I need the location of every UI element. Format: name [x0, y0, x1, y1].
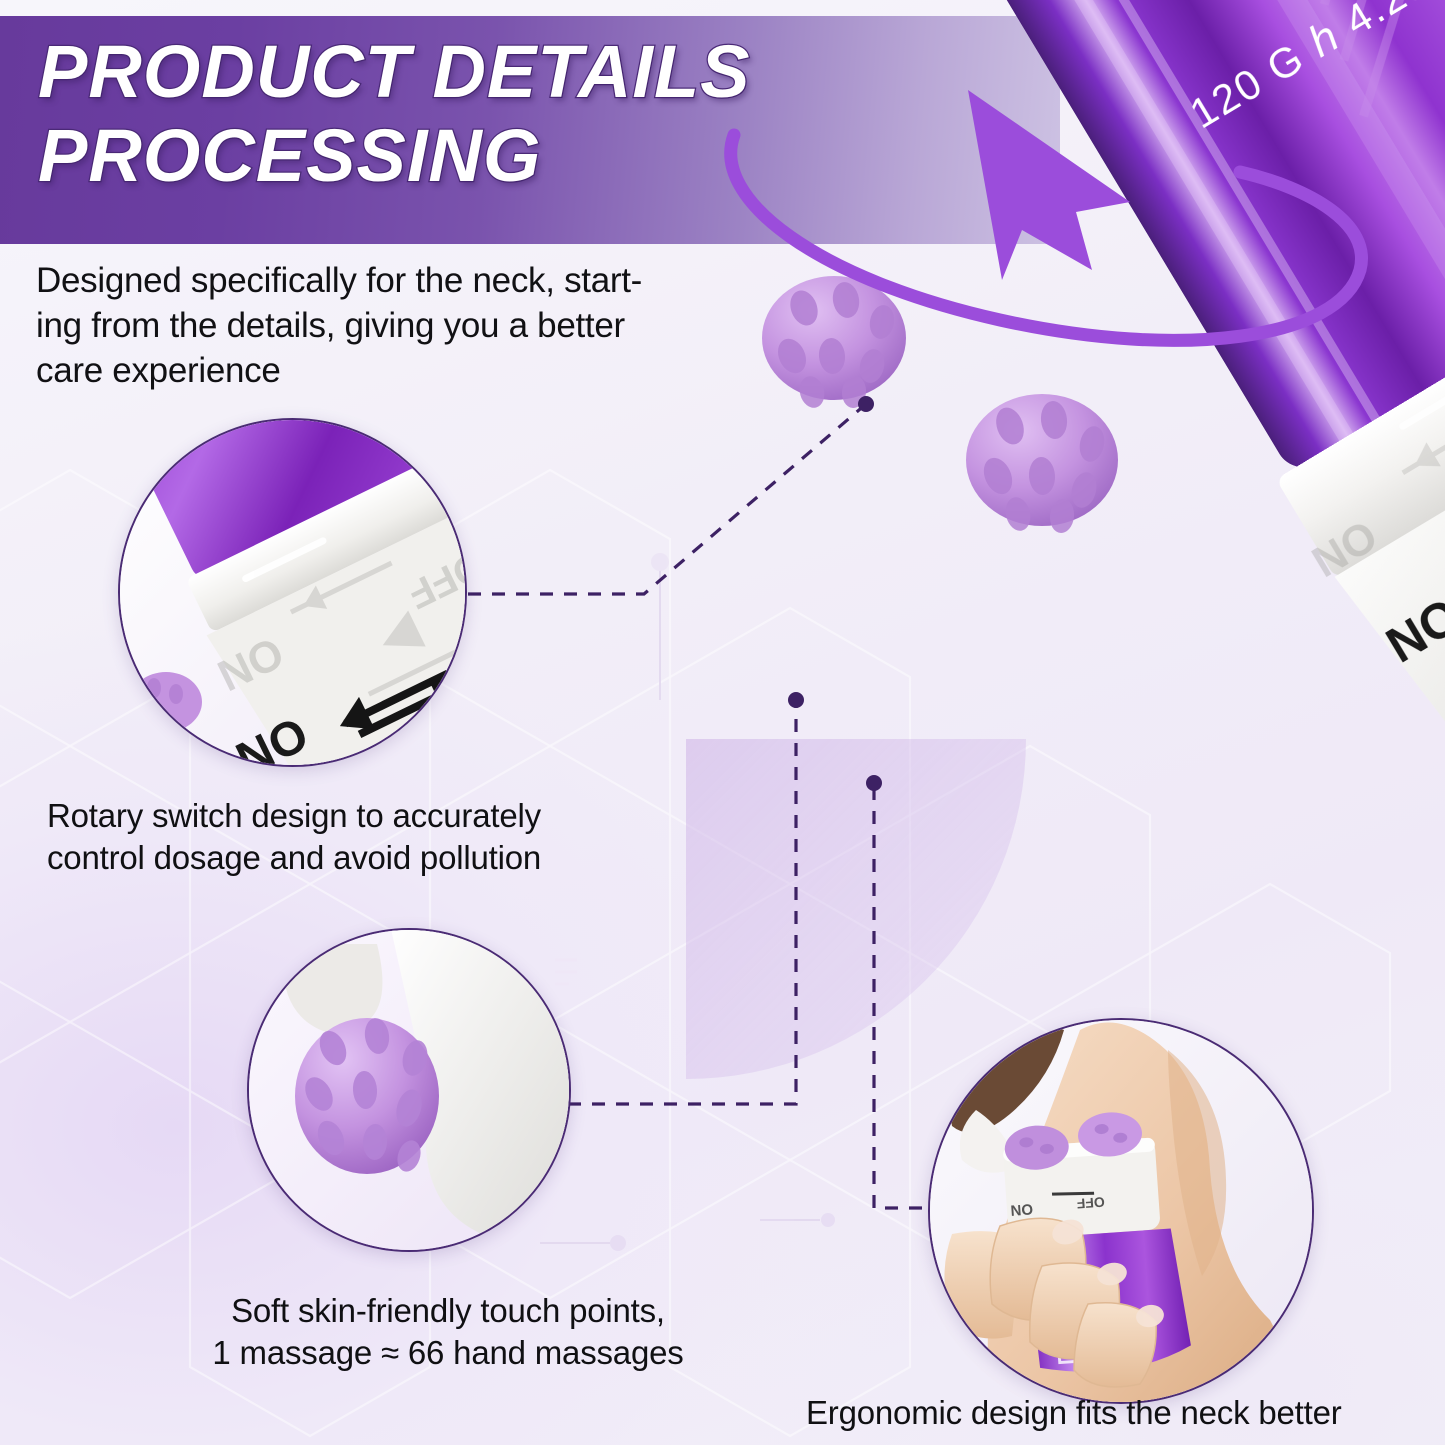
- inset-ergonomic-fit: ON OFF 120 G ℎ 4.23 AH-8: [928, 1018, 1314, 1404]
- massage-roller-ball-left: [762, 276, 906, 411]
- inset-rotary-switch: ON OFF ON: [118, 418, 467, 767]
- inset-touch-points: [247, 928, 571, 1252]
- page-title: PRODUCT DETAILS PROCESSING: [38, 30, 1038, 198]
- massage-roller-ball-right: [966, 394, 1118, 534]
- feature-caption-rotary-switch: Rotary switch design to accurately contr…: [47, 795, 687, 879]
- intro-paragraph: Designed specifically for the neck, star…: [36, 258, 756, 393]
- svg-text:ON: ON: [1303, 510, 1385, 586]
- feature-caption-ergonomic-fit: Ergonomic design fits the neck better: [806, 1392, 1426, 1434]
- svg-text:120 G ℎ 4.23 FL. OZ: 120 G ℎ 4.23 FL. OZ: [1182, 0, 1445, 137]
- feature-caption-touch-points: Soft skin-friendly touch points, 1 massa…: [138, 1290, 758, 1374]
- svg-text:ON: ON: [1010, 1200, 1034, 1219]
- svg-text:ON: ON: [1376, 587, 1445, 674]
- svg-text:OFF: OFF: [1076, 1194, 1105, 1212]
- product-detail-infographic: PRODUCT DETAILS PROCESSING Designed spec…: [0, 0, 1445, 1445]
